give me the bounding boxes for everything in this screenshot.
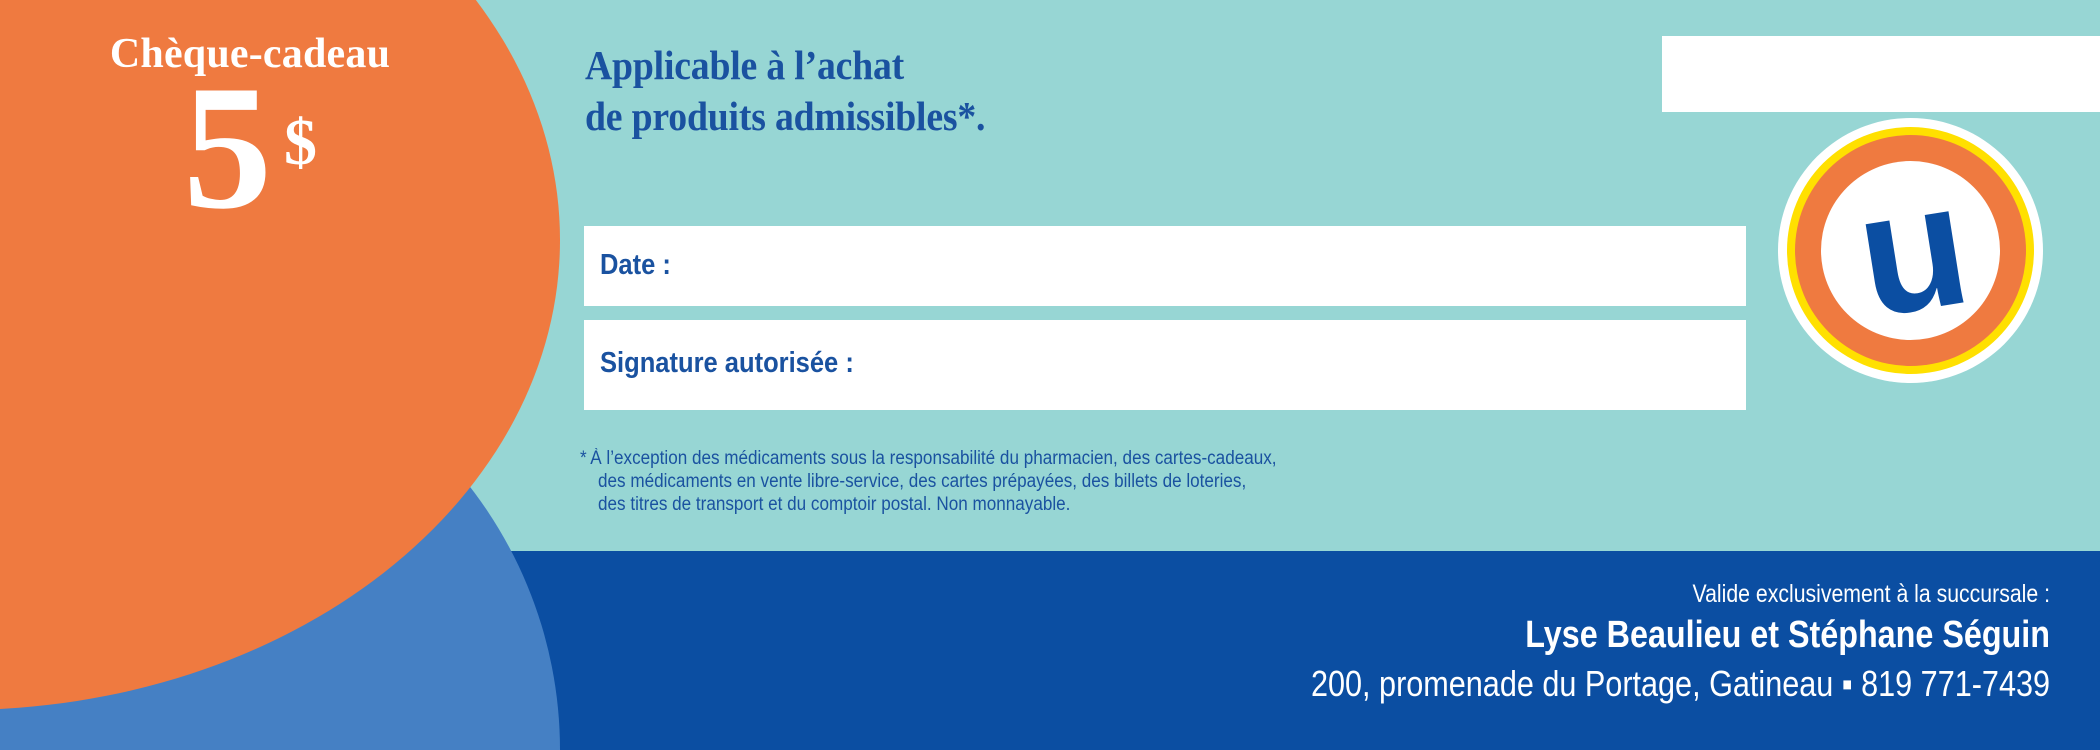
- signature-field-label: Signature autorisée :: [600, 347, 854, 380]
- headline: Applicable à l’achat de produits admissi…: [585, 40, 1413, 142]
- footer-valid-label: Valide exclusivement à la succursale :: [860, 578, 2050, 611]
- asterisk-marker: *: [580, 448, 587, 469]
- gift-certificate: Chèque-cadeau 5 $ Applicable à l’achat d…: [0, 0, 2100, 750]
- fineprint-line-3: des titres de transport et du comptoir p…: [580, 493, 1570, 516]
- footer-branch-name: Lyse Beaulieu et Stéphane Séguin: [860, 611, 2050, 660]
- date-field-label: Date :: [600, 249, 671, 282]
- fineprint-line-1: *À l’exception des médicaments sous la r…: [580, 447, 1570, 470]
- voucher-left-panel: Chèque-cadeau 5 $: [0, 0, 560, 750]
- footer-branch-info: Valide exclusivement à la succursale : L…: [650, 578, 2050, 708]
- amount-entry-box[interactable]: [1662, 36, 2100, 112]
- footer-address: 200, promenade du Portage, Gatineau ▪ 81…: [860, 660, 2050, 708]
- headline-line-1: Applicable à l’achat: [585, 40, 1413, 91]
- logo-u-letter: u: [1808, 145, 2015, 357]
- fineprint-disclaimer: *À l’exception des médicaments sous la r…: [580, 447, 1570, 516]
- headline-line-2: de produits admissibles*.: [585, 91, 1413, 142]
- date-field[interactable]: Date :: [584, 226, 1746, 306]
- fineprint-line-2: des médicaments en vente libre-service, …: [580, 470, 1570, 493]
- fineprint-text-1: À l’exception des médicaments sous la re…: [590, 448, 1276, 469]
- voucher-amount-value: 5: [183, 72, 272, 222]
- signature-field[interactable]: Signature autorisée :: [584, 320, 1746, 410]
- uniprix-logo: u: [1778, 118, 2043, 383]
- voucher-amount-group: 5 $: [0, 72, 500, 222]
- voucher-currency-symbol: $: [284, 110, 317, 176]
